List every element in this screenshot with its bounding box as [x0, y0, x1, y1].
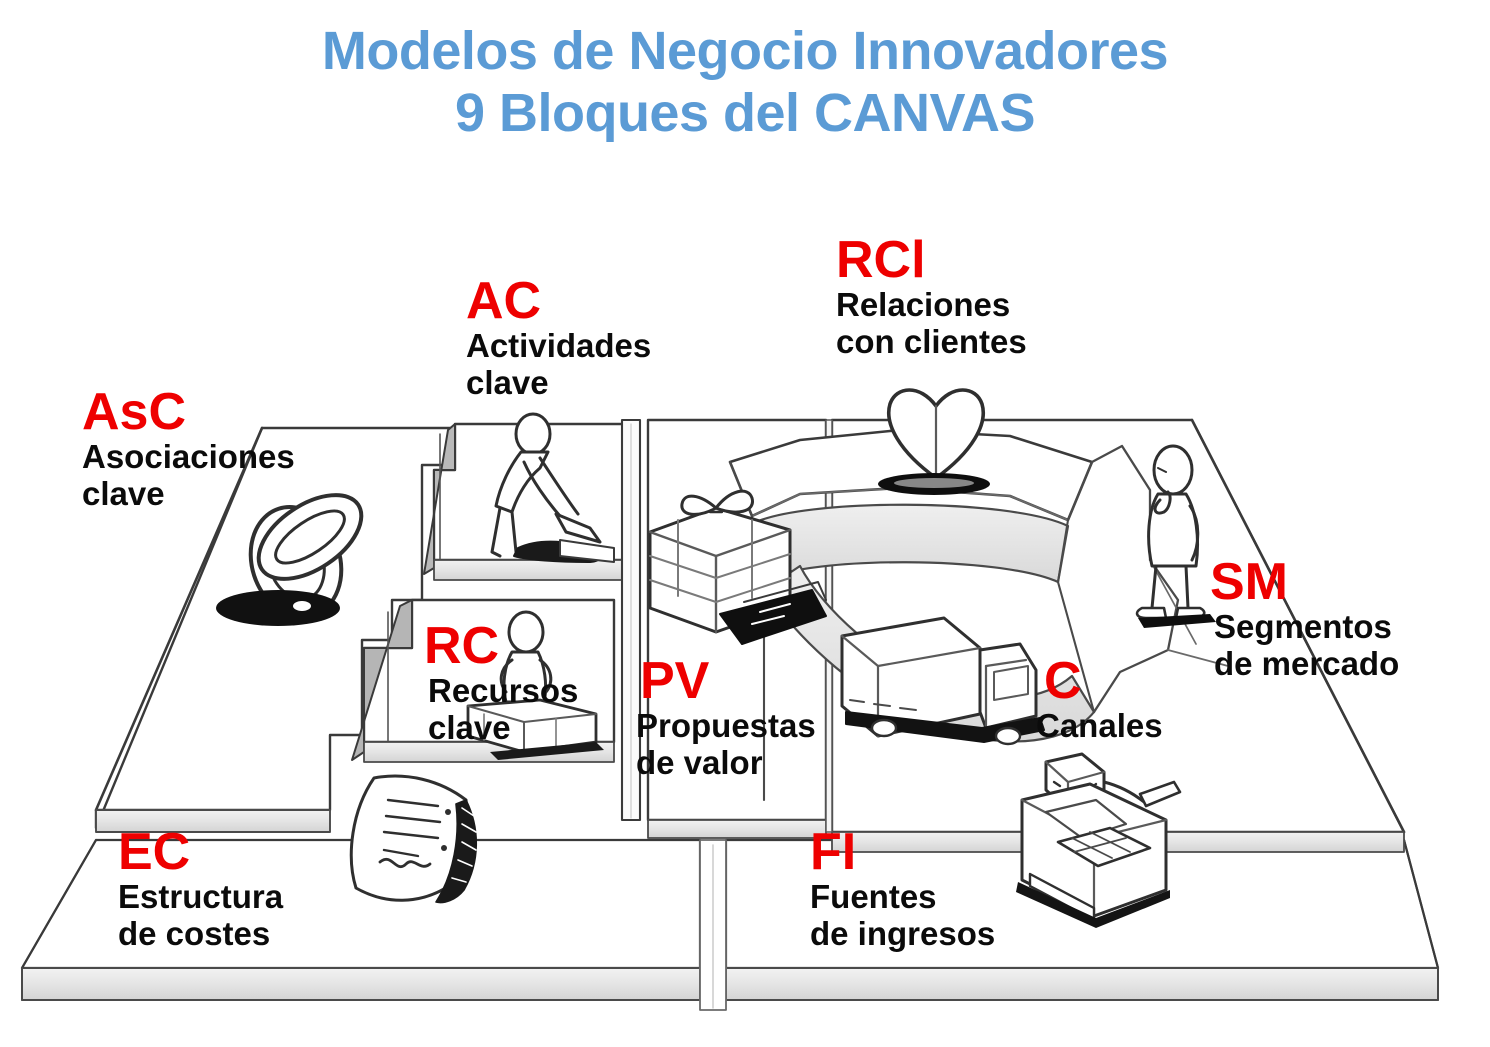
block-label-ec: EC Estructura de costes [118, 826, 283, 952]
block-code-c: C [1044, 655, 1163, 707]
block-label-ac: AC Actividades clave [466, 275, 651, 401]
block-label-c: C Canales [1036, 655, 1163, 744]
title-line-2: 9 Bloques del CANVAS [0, 82, 1490, 144]
block-code-sm: SM [1210, 556, 1399, 608]
block-label-fi: FI Fuentes de ingresos [810, 826, 995, 952]
block-name-sm: Segmentos de mercado [1214, 608, 1399, 682]
block-name-c: Canales [1036, 707, 1163, 744]
block-name-asc: Asociaciones clave [82, 438, 295, 512]
block-name-ac: Actividades clave [466, 327, 651, 401]
block-code-ec: EC [118, 826, 283, 878]
block-label-pv: PV Propuestas de valor [636, 655, 816, 781]
page-title: Modelos de Negocio Innovadores 9 Bloques… [0, 20, 1490, 144]
block-name-ec: Estructura de costes [118, 878, 283, 952]
block-code-ac: AC [466, 275, 651, 327]
block-label-rc: RC Recursos clave [424, 620, 578, 746]
block-code-rcl: RCl [836, 234, 1027, 286]
title-line-1: Modelos de Negocio Innovadores [0, 20, 1490, 82]
block-code-rc: RC [424, 620, 578, 672]
block-name-fi: Fuentes de ingresos [810, 878, 995, 952]
block-label-asc: AsC Asociaciones clave [82, 386, 295, 512]
block-name-rc: Recursos clave [428, 672, 578, 746]
block-label-rcl: RCl Relaciones con clientes [836, 234, 1027, 360]
block-name-rcl: Relaciones con clientes [836, 286, 1027, 360]
block-code-asc: AsC [82, 386, 295, 438]
block-code-pv: PV [640, 655, 816, 707]
block-label-sm: SM Segmentos de mercado [1210, 556, 1399, 682]
block-name-pv: Propuestas de valor [636, 707, 816, 781]
block-code-fi: FI [810, 826, 995, 878]
canvas-diagram-slide: Modelos de Negocio Innovadores 9 Bloques… [0, 0, 1490, 1047]
invoice-document-icon [351, 776, 476, 902]
